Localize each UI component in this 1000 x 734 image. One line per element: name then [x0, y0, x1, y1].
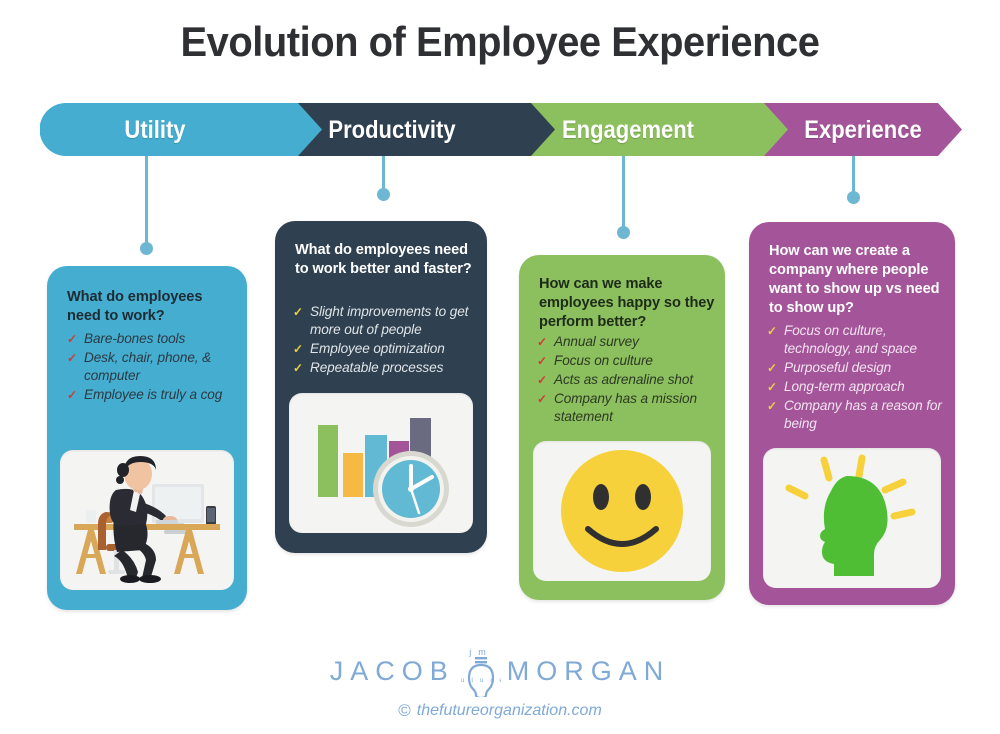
list-item: ✓Purposeful design	[767, 359, 953, 377]
list-item: ✓Slight improvements to get more out of …	[293, 303, 483, 339]
check-icon: ✓	[767, 359, 777, 377]
check-icon: ✓	[767, 322, 777, 340]
card-bullet-list-productivity: ✓Slight improvements to get more out of …	[293, 303, 483, 378]
connector-line-productivity	[382, 156, 385, 191]
infographic-canvas: Evolution of Employee Experience Utility…	[0, 0, 1000, 734]
bar-chart-and-clock-illustration	[289, 393, 473, 533]
list-item: ✓Employee optimization	[293, 340, 483, 358]
check-icon: ✓	[293, 340, 303, 358]
check-icon: ✓	[293, 359, 303, 377]
banner-label-engagement[interactable]: Engagement	[540, 115, 716, 145]
list-item: ✓Acts as adrenaline shot	[537, 371, 723, 389]
check-icon: ✓	[537, 371, 547, 389]
check-icon: ✓	[767, 397, 777, 415]
card-bullet-list-experience: ✓Focus on culture, technology, and space…	[767, 322, 953, 434]
list-item: ✓Desk, chair, phone, & computer	[67, 349, 243, 385]
connector-dot-experience	[847, 191, 860, 204]
bullet-text: Focus on culture, technology, and space	[784, 323, 917, 356]
check-icon: ✓	[537, 352, 547, 370]
connector-dot-utility	[140, 242, 153, 255]
connector-dot-engagement	[617, 226, 630, 239]
list-item: ✓Annual survey	[537, 333, 723, 351]
bullet-text: Desk, chair, phone, & computer	[84, 350, 211, 383]
copyright-icon: ©	[398, 701, 411, 721]
bullet-text: Slight improvements to get more out of p…	[310, 304, 468, 337]
bullet-text: Annual survey	[554, 334, 639, 349]
smiley-face-illustration	[533, 441, 711, 581]
bullet-text: Company has a mission statement	[554, 391, 697, 424]
card-question-engagement: How can we make employees happy so they …	[539, 275, 715, 332]
bullet-text: Employee optimization	[310, 341, 445, 356]
website-url[interactable]: thefutureorganization.com	[417, 702, 602, 720]
list-item: ✓Focus on culture	[537, 352, 723, 370]
card-bullet-list-utility: ✓Bare-bones tools ✓Desk, chair, phone, &…	[67, 330, 243, 405]
card-question-experience: How can we create a company where people…	[769, 242, 945, 318]
svg-text:future: future	[461, 678, 501, 684]
brand-second-name: MORGAN	[507, 656, 671, 687]
check-icon: ✓	[67, 386, 77, 404]
connector-line-experience	[852, 156, 855, 194]
bullet-text: Long-term approach	[784, 379, 905, 394]
website-line[interactable]: © thefutureorganization.com	[0, 701, 1000, 721]
connector-dot-productivity	[377, 188, 390, 201]
bullet-text: Company has a reason for being	[784, 398, 942, 431]
banner-label-experience[interactable]: Experience	[779, 115, 946, 145]
check-icon: ✓	[537, 333, 547, 351]
card-bullet-list-engagement: ✓Annual survey ✓Focus on culture ✓Acts a…	[537, 333, 723, 427]
check-icon: ✓	[293, 303, 303, 321]
list-item: ✓Employee is truly a cog	[67, 386, 243, 404]
stage-card-engagement[interactable]: How can we make employees happy so they …	[519, 255, 725, 600]
list-item: ✓Repeatable processes	[293, 359, 483, 377]
list-item: ✓Focus on culture, technology, and space	[767, 322, 953, 358]
card-question-productivity: What do employees need to work better an…	[295, 241, 475, 279]
lightbulb-icon: jm future	[461, 645, 501, 697]
card-question-utility: What do employees need to work?	[67, 288, 237, 326]
check-icon: ✓	[67, 330, 77, 348]
connector-line-utility	[145, 156, 148, 245]
brand-wordmark: JACOB jm future MORGAN	[330, 645, 671, 697]
banner-label-productivity[interactable]: Productivity	[304, 115, 480, 145]
bullet-text: Acts as adrenaline shot	[554, 372, 693, 387]
footer-branding: JACOB jm future MORGAN © thefutureorgani…	[0, 645, 1000, 721]
banner-label-utility[interactable]: Utility	[71, 115, 238, 145]
bullet-text: Repeatable processes	[310, 360, 443, 375]
bullet-text: Purposeful design	[784, 360, 891, 375]
list-item: ✓Long-term approach	[767, 378, 953, 396]
list-item: ✓Company has a reason for being	[767, 397, 953, 433]
bullet-text: Employee is truly a cog	[84, 387, 222, 402]
list-item: ✓Company has a mission statement	[537, 390, 723, 426]
bullet-text: Focus on culture	[554, 353, 653, 368]
bullet-text: Bare-bones tools	[84, 331, 185, 346]
green-head-with-rays-illustration	[763, 448, 941, 588]
stage-card-productivity[interactable]: What do employees need to work better an…	[275, 221, 487, 553]
page-title: Evolution of Employee Experience	[25, 18, 975, 66]
check-icon: ✓	[67, 349, 77, 367]
stage-card-experience[interactable]: How can we create a company where people…	[749, 222, 955, 605]
svg-text:jm: jm	[468, 647, 493, 657]
connector-line-engagement	[622, 156, 625, 229]
check-icon: ✓	[537, 390, 547, 408]
check-icon: ✓	[767, 378, 777, 396]
list-item: ✓Bare-bones tools	[67, 330, 243, 348]
woman-at-desk-illustration	[60, 450, 234, 590]
brand-first-name: JACOB	[330, 656, 455, 687]
stage-card-utility[interactable]: What do employees need to work? ✓Bare-bo…	[47, 266, 247, 610]
